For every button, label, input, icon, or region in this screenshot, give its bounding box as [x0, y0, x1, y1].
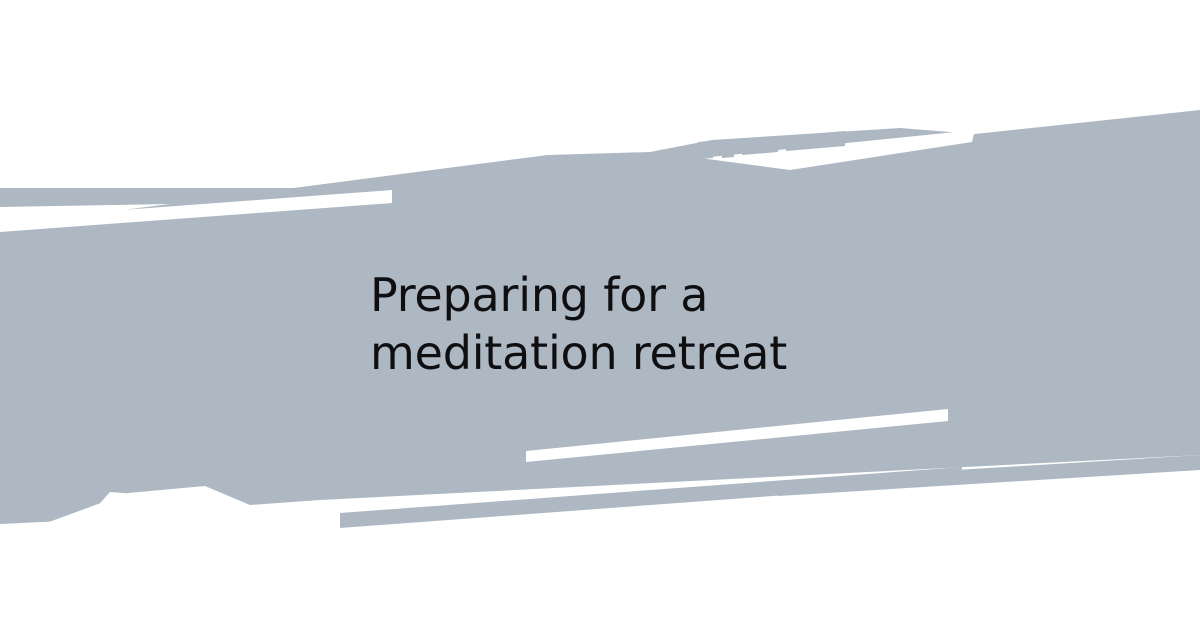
banner-card: Preparing for a meditation retreat — [0, 0, 1200, 630]
dash-mark-3 — [742, 136, 778, 155]
page-title: Preparing for a meditation retreat — [370, 267, 830, 383]
dash-mark-2 — [722, 140, 734, 158]
dash-mark-1 — [698, 141, 713, 159]
